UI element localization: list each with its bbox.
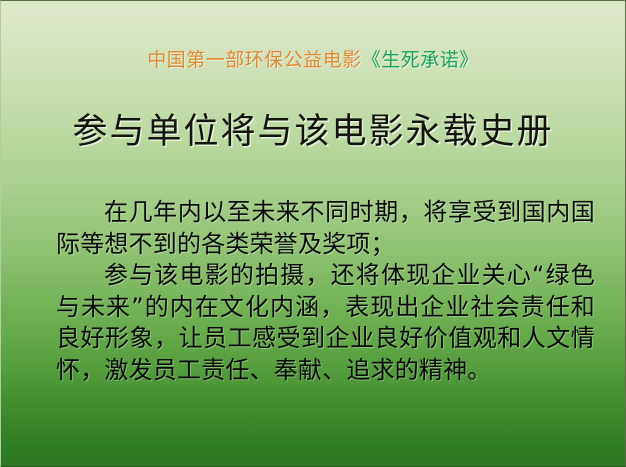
body-paragraph-2: 参与该电影的拍摄，还将体现企业关心“绿色与未来”的内在文化内涵，表现出企业社会责… [56, 260, 595, 386]
body-paragraph-1: 在几年内以至未来不同时期，将享受到国内国际等想不到的各类荣誉及奖项； [56, 197, 595, 260]
slide-main-heading: 参与单位将与该电影永载史册 [1, 109, 625, 155]
presentation-slide: 中国第一部环保公益电影《生死承诺》 参与单位将与该电影永载史册 在几年内以至未来… [0, 0, 626, 467]
subtitle-orange-text: 中国第一部环保公益电影 [147, 49, 362, 71]
slide-subtitle: 中国第一部环保公益电影《生死承诺》 [1, 47, 625, 73]
slide-body: 在几年内以至未来不同时期，将享受到国内国际等想不到的各类荣誉及奖项； 参与该电影… [56, 197, 595, 386]
subtitle-green-title: 《生死承诺》 [362, 49, 479, 71]
